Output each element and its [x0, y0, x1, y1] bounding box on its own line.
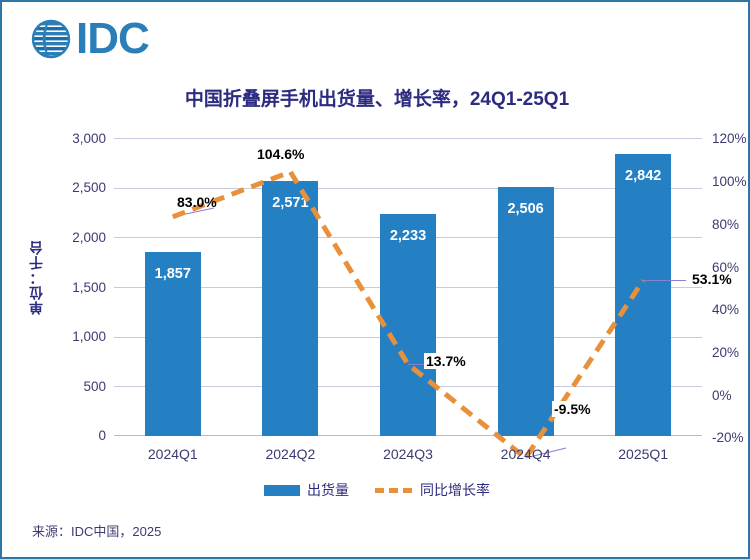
- y-tick-left: 2,000: [36, 230, 106, 245]
- chart-legend: 出货量 同比增长率: [2, 480, 750, 500]
- y-tick-right: 80%: [712, 217, 750, 232]
- y-tick-right: 0%: [712, 388, 750, 403]
- y-tick-left: 1,000: [36, 329, 106, 344]
- growth-label-2025q1: 53.1%: [692, 271, 732, 287]
- legend-item-growth-rate[interactable]: 同比增长率: [375, 480, 490, 500]
- bar-swatch-icon: [264, 485, 300, 496]
- growth-label-2024q2: 104.6%: [257, 146, 304, 162]
- y-axis-title: 单位：千台: [26, 240, 46, 315]
- legend-item-shipments[interactable]: 出货量: [264, 480, 349, 500]
- y-tick-left: 1,500: [36, 280, 106, 295]
- growth-label-2024q1: 83.0%: [177, 194, 217, 210]
- y-tick-right: 100%: [712, 174, 750, 189]
- y-tick-right: 120%: [712, 131, 750, 146]
- growth-label-2024q4: -9.5%: [552, 401, 593, 417]
- y-tick-left: 2,500: [36, 180, 106, 195]
- growth-rate-line: [114, 138, 702, 436]
- y-tick-right: -20%: [712, 430, 750, 445]
- idc-logo-text: IDC: [76, 17, 149, 61]
- plot-area: 1,857 2,571 2,233 2,506 2,842 83.0% 104.…: [114, 138, 702, 436]
- source-note: 来源：IDC中国，2025: [32, 521, 161, 540]
- chart-title: 中国折叠屏手机出货量、增长率，24Q1-25Q1: [2, 84, 750, 111]
- y-tick-left: 500: [36, 379, 106, 394]
- x-tick-2025q1: 2025Q1: [588, 446, 698, 462]
- x-tick-2024q1: 2024Q1: [118, 446, 228, 462]
- legend-label-growth-rate: 同比增长率: [420, 480, 490, 500]
- globe-icon: [28, 16, 74, 62]
- growth-label-2024q3: 13.7%: [424, 353, 468, 369]
- x-tick-2024q2: 2024Q2: [235, 446, 345, 462]
- y-tick-right: 40%: [712, 302, 750, 317]
- y-tick-left: 3,000: [36, 131, 106, 146]
- y-tick-right: 20%: [712, 345, 750, 360]
- legend-label-shipments: 出货量: [307, 480, 349, 500]
- chart-page: IDC 中国折叠屏手机出货量、增长率，24Q1-25Q1 单位：千台 3,000…: [0, 0, 750, 559]
- y-tick-left: 0: [36, 428, 106, 443]
- idc-logo: IDC: [28, 16, 149, 62]
- dashed-line-swatch-icon: [375, 488, 413, 493]
- x-tick-2024q4: 2024Q4: [471, 446, 581, 462]
- x-tick-2024q3: 2024Q3: [353, 446, 463, 462]
